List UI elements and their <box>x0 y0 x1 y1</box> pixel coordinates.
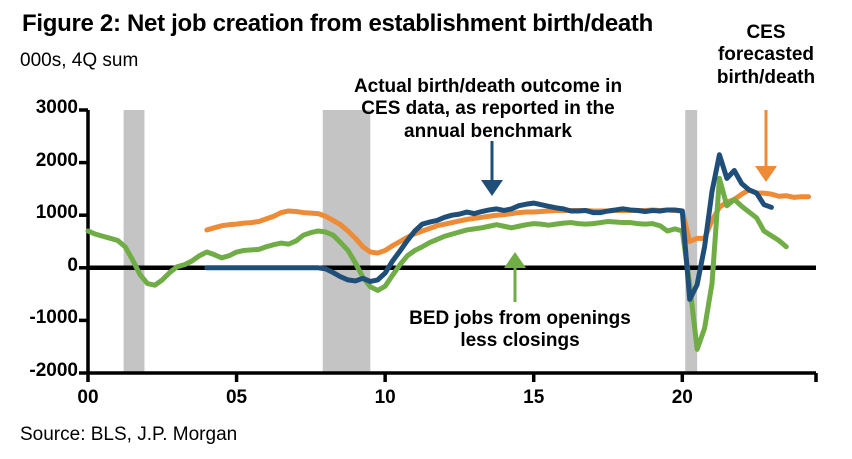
y-tick-label: 0 <box>0 255 78 277</box>
x-tick-label: 20 <box>662 387 702 409</box>
x-tick-label: 05 <box>217 387 257 409</box>
figure-container: Figure 2: Net job creation from establis… <box>0 0 852 459</box>
y-tick-label: 2000 <box>0 150 78 172</box>
y-tick-label: -1000 <box>0 307 78 329</box>
y-tick-label: 3000 <box>0 97 78 119</box>
green-arrow-head <box>504 252 526 268</box>
x-tick-label: 00 <box>68 387 108 409</box>
navy-arrow-head <box>481 180 503 196</box>
recession-band <box>323 110 371 373</box>
x-tick-label: 10 <box>365 387 405 409</box>
annotation-green-label: BED jobs from openings less closings <box>406 308 634 353</box>
annotation-navy-label: Actual birth/death outcome in CES data, … <box>352 76 624 143</box>
x-tick-label: 15 <box>514 387 554 409</box>
y-tick-label: -2000 <box>0 360 78 382</box>
annotation-orange-label: CES forecasted birth/death <box>698 22 834 89</box>
orange-arrow-head <box>755 166 777 182</box>
y-tick-label: 1000 <box>0 202 78 224</box>
recession-band <box>124 110 145 373</box>
